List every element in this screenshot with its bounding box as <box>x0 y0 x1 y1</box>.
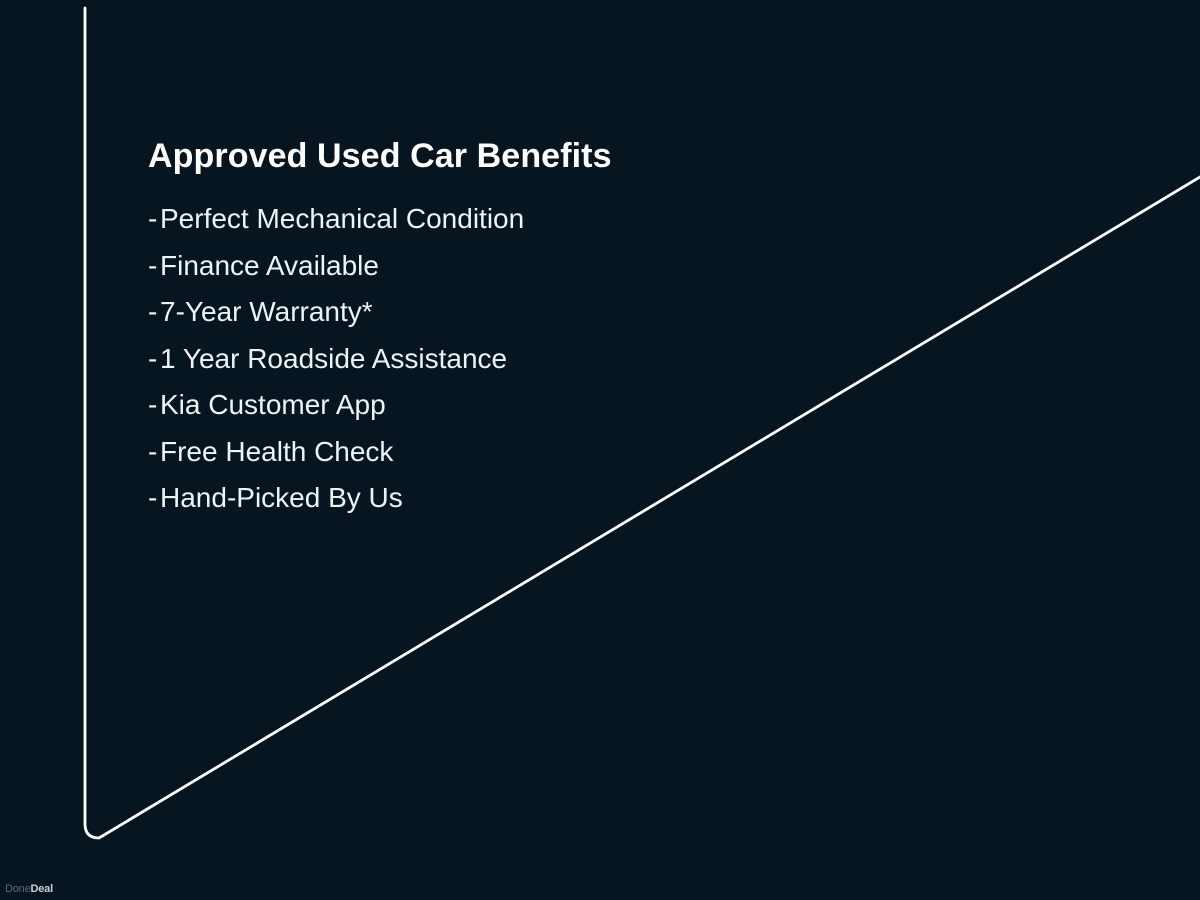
bullet-dash-icon: - <box>148 289 160 336</box>
bullet-dash-icon: - <box>148 475 160 522</box>
watermark-done-text: Done <box>5 883 31 895</box>
bullet-dash-icon: - <box>148 429 160 476</box>
list-item: - Finance Available <box>148 243 988 290</box>
bullet-dash-icon: - <box>148 243 160 290</box>
list-item-label: Kia Customer App <box>160 382 386 429</box>
list-item: - Hand-Picked By Us <box>148 475 988 522</box>
list-item: - Free Health Check <box>148 429 988 476</box>
benefits-list: - Perfect Mechanical Condition - Finance… <box>148 196 988 522</box>
list-item-label: Finance Available <box>160 243 379 290</box>
list-item-label: 7-Year Warranty* <box>160 289 373 336</box>
list-item-label: Free Health Check <box>160 429 393 476</box>
watermark-deal-text: Deal <box>31 883 53 895</box>
bullet-dash-icon: - <box>148 382 160 429</box>
list-item-label: Hand-Picked By Us <box>160 475 403 522</box>
slide-canvas: Approved Used Car Benefits - Perfect Mec… <box>0 0 1200 900</box>
list-item-label: 1 Year Roadside Assistance <box>160 336 507 383</box>
page-title: Approved Used Car Benefits <box>148 134 988 178</box>
bullet-dash-icon: - <box>148 196 160 243</box>
list-item: - Perfect Mechanical Condition <box>148 196 988 243</box>
list-item-label: Perfect Mechanical Condition <box>160 196 524 243</box>
content-block: Approved Used Car Benefits - Perfect Mec… <box>148 134 988 522</box>
list-item: - Kia Customer App <box>148 382 988 429</box>
bullet-dash-icon: - <box>148 336 160 383</box>
list-item: - 1 Year Roadside Assistance <box>148 336 988 383</box>
watermark: DoneDeal <box>5 883 53 896</box>
list-item: - 7-Year Warranty* <box>148 289 988 336</box>
